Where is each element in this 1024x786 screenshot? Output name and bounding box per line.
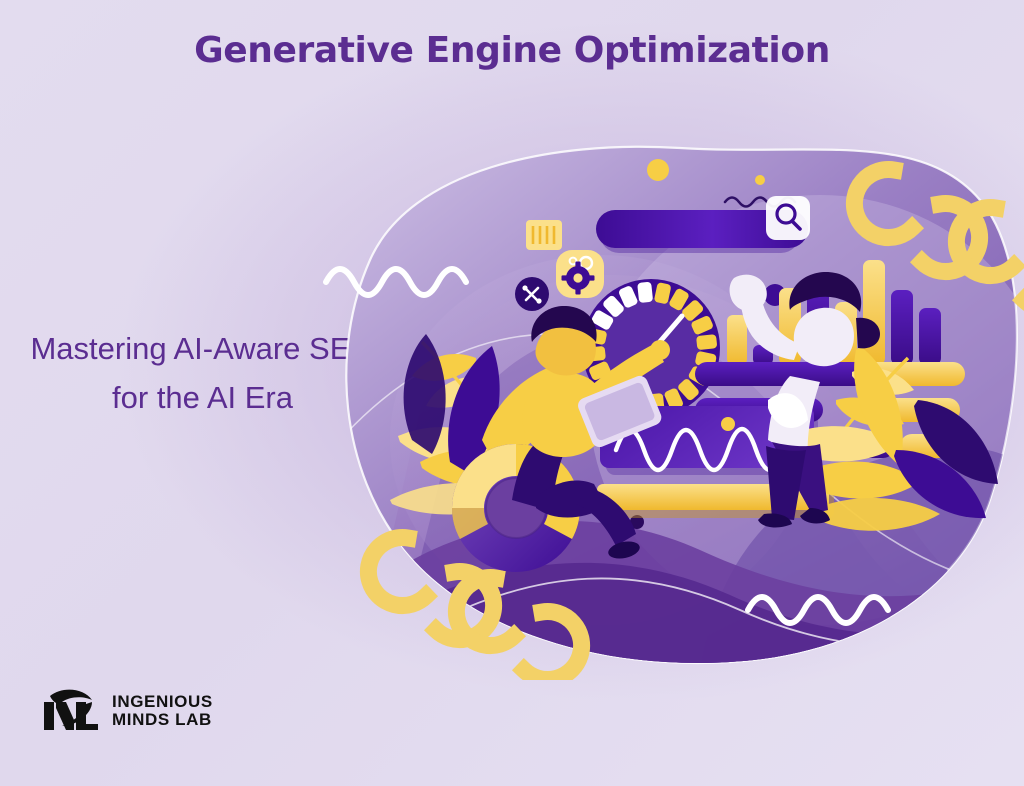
seo-analytics-illustration — [300, 110, 1024, 680]
iml-monogram — [40, 686, 102, 736]
dot-decor — [755, 175, 765, 185]
logo-line-1: INGENIOUS — [112, 693, 213, 711]
dot-decor — [647, 159, 669, 181]
tools-icon[interactable] — [515, 277, 549, 311]
gear-icon[interactable] — [556, 250, 604, 298]
logo-wordmark: INGENIOUS MINDS LAB — [112, 693, 213, 729]
search-button[interactable] — [766, 196, 810, 240]
brand-logo[interactable]: INGENIOUS MINDS LAB — [40, 686, 213, 736]
logo-line-2: MINDS LAB — [112, 711, 213, 729]
page-title: Generative Engine Optimization — [0, 30, 1024, 71]
barcode-icon — [526, 220, 562, 250]
poster-canvas: Generative Engine Optimization Mastering… — [0, 0, 1024, 786]
